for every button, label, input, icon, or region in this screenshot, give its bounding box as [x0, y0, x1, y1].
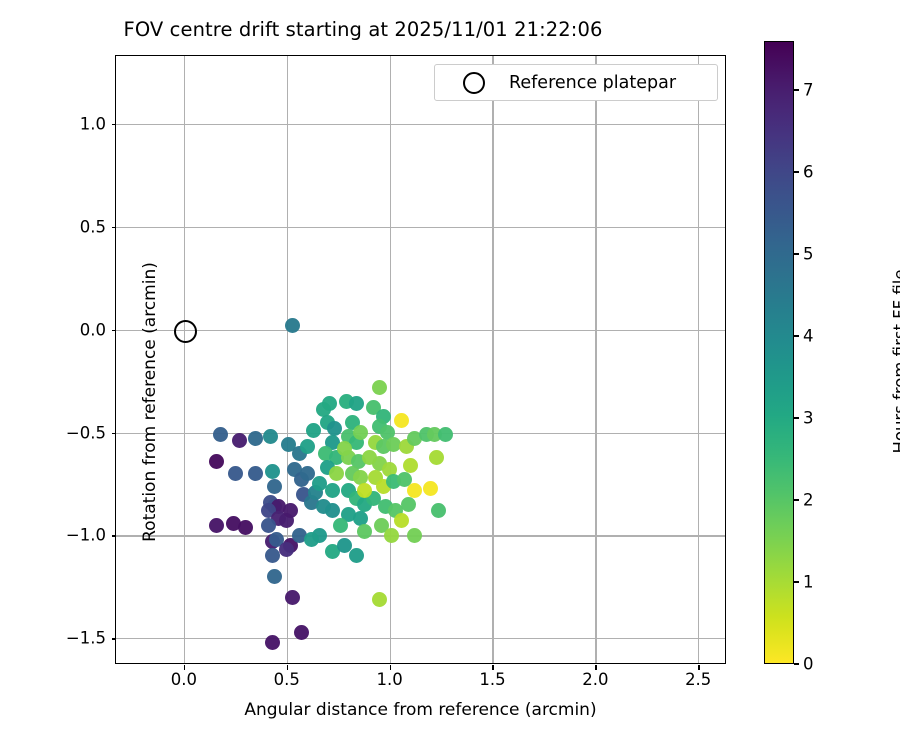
y-tick [112, 227, 117, 228]
x-tick-label: 1.5 [479, 670, 505, 689]
scatter-point [423, 481, 438, 496]
scatter-point [357, 483, 372, 498]
scatter-point [265, 548, 280, 563]
colorbar-tick-label: 1 [803, 573, 814, 592]
scatter-point [267, 569, 282, 584]
x-tick-label: 0.5 [274, 670, 300, 689]
y-tick [112, 124, 117, 125]
colorbar-tick [794, 663, 799, 664]
figure-canvas: FOV centre drift starting at 2025/11/01 … [0, 0, 900, 750]
y-tick-label: 0.5 [36, 217, 106, 236]
colorbar-tick [794, 171, 799, 172]
x-tick-label: 1.0 [376, 670, 402, 689]
scatter-point [325, 483, 340, 498]
gridline-horizontal [116, 227, 725, 228]
scatter-point [329, 466, 344, 481]
scatter-point [228, 466, 243, 481]
scatter-point [213, 427, 228, 442]
colorbar-tick [794, 417, 799, 418]
colorbar-tick-label: 5 [803, 245, 814, 264]
scatter-point [407, 528, 422, 543]
scatter-point [372, 380, 387, 395]
scatter-point [294, 625, 309, 640]
scatter-point [407, 483, 422, 498]
colorbar-tick [794, 335, 799, 336]
scatter-point [327, 421, 342, 436]
scatter-point [394, 513, 409, 528]
colorbar-tick-label: 7 [803, 81, 814, 100]
y-tick-label: 0.0 [36, 320, 106, 339]
scatter-point [349, 548, 364, 563]
x-tick-label: 2.5 [685, 670, 711, 689]
scatter-point [248, 431, 263, 446]
y-tick-label: −1.0 [36, 526, 106, 545]
scatter-point [333, 518, 348, 533]
colorbar-label: Hours from first FF file [891, 162, 900, 562]
colorbar-gradient [765, 42, 793, 663]
legend-box: Reference platepar [434, 64, 718, 101]
x-tick [595, 665, 596, 670]
gridline-horizontal [116, 638, 725, 639]
gridline-vertical [492, 56, 493, 663]
x-tick [184, 665, 185, 670]
gridline-vertical [698, 56, 699, 663]
y-tick [112, 638, 117, 639]
scatter-point [238, 520, 253, 535]
scatter-point [300, 439, 315, 454]
scatter-point [384, 528, 399, 543]
scatter-point [267, 479, 282, 494]
scatter-point [306, 423, 321, 438]
scatter-point [401, 497, 416, 512]
colorbar [764, 41, 794, 664]
gridline-vertical [595, 56, 596, 663]
scatter-point [232, 433, 247, 448]
scatter-point [362, 450, 377, 465]
y-tick-label: −1.5 [36, 629, 106, 648]
scatter-point [285, 590, 300, 605]
scatter-point [304, 532, 319, 547]
gridline-horizontal [116, 330, 725, 331]
legend-circle-icon [463, 72, 485, 94]
y-tick [112, 535, 117, 536]
legend-label: Reference platepar [509, 73, 676, 93]
reference-platepar-marker [174, 320, 197, 343]
scatter-point [322, 396, 337, 411]
colorbar-tick-label: 3 [803, 409, 814, 428]
scatter-point [263, 429, 278, 444]
y-tick-label: 1.0 [36, 114, 106, 133]
x-tick [390, 665, 391, 670]
scatter-point [248, 466, 263, 481]
scatter-point [349, 396, 364, 411]
plot-area: 0.00.51.01.52.02.5−1.5−1.0−0.50.00.51.0 … [115, 55, 726, 664]
x-tick-label: 0.0 [171, 670, 197, 689]
gridline-vertical [390, 56, 391, 663]
colorbar-tick [794, 253, 799, 254]
gridline-vertical [184, 56, 185, 663]
y-tick [112, 330, 117, 331]
colorbar-tick [794, 499, 799, 500]
scatter-point [209, 454, 224, 469]
colorbar-tick [794, 89, 799, 90]
gridline-vertical [287, 56, 288, 663]
scatter-point [209, 518, 224, 533]
x-tick [287, 665, 288, 670]
colorbar-tick-label: 6 [803, 163, 814, 182]
chart-title: FOV centre drift starting at 2025/11/01 … [0, 18, 726, 41]
colorbar-tick-label: 4 [803, 327, 814, 346]
colorbar-tick-label: 0 [803, 655, 814, 674]
scatter-point [265, 464, 280, 479]
x-tick [698, 665, 699, 670]
scatter-point [394, 413, 409, 428]
scatter-point [261, 518, 276, 533]
x-axis-label: Angular distance from reference (arcmin) [115, 700, 726, 720]
scatter-point [403, 458, 418, 473]
scatter-point [438, 427, 453, 442]
colorbar-tick-label: 2 [803, 491, 814, 510]
scatter-point [372, 592, 387, 607]
scatter-point [283, 503, 298, 518]
scatter-point [325, 503, 340, 518]
gridline-horizontal [116, 124, 725, 125]
scatter-point [279, 542, 294, 557]
scatter-point [265, 635, 280, 650]
scatter-point [431, 503, 446, 518]
y-tick [112, 433, 117, 434]
x-tick-label: 2.0 [582, 670, 608, 689]
scatter-point [353, 425, 368, 440]
x-tick [492, 665, 493, 670]
y-axis-label: Rotation from reference (arcmin) [140, 202, 160, 602]
scatter-point [429, 450, 444, 465]
y-tick-label: −0.5 [36, 423, 106, 442]
colorbar-tick [794, 581, 799, 582]
